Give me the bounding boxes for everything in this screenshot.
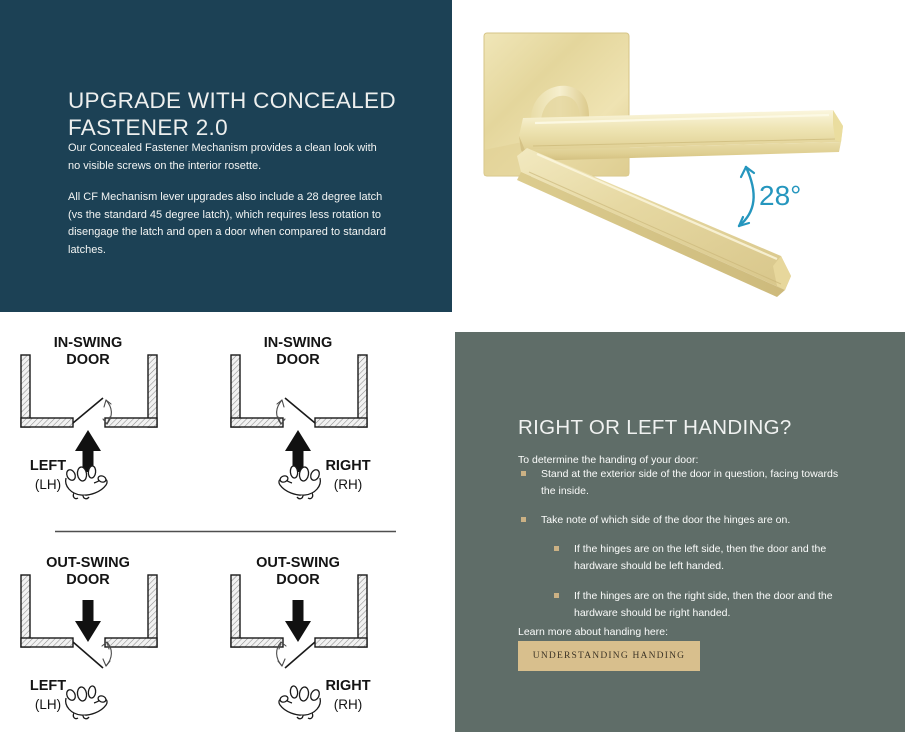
concealed-fastener-paragraph-1: Our Concealed Fastener Mechanism provide… — [68, 140, 386, 175]
in-swing-right-title-line1: IN-SWING — [264, 335, 332, 351]
diagram-out-swing-left: OUT-SWING DOOR LEFT (LH) — [21, 555, 157, 719]
door-handing-diagram-panel: IN-SWING DOOR LEFT (LH) — [0, 320, 452, 747]
concealed-fastener-panel: UPGRADE WITH CONCEALED FASTENER 2.0 Our … — [0, 0, 452, 312]
handing-bullet-1: Stand at the exterior side of the door i… — [518, 466, 876, 500]
handing-sub-bullet-1-text: If the hinges are on the left side, then… — [574, 541, 859, 575]
concealed-fastener-body: Our Concealed Fastener Mechanism provide… — [68, 140, 386, 259]
learn-more-text: Learn more about handing here: — [518, 624, 668, 640]
left-hand-icon — [65, 466, 107, 499]
concealed-fastener-title: UPGRADE WITH CONCEALED FASTENER 2.0 — [68, 87, 398, 141]
handing-info-title: RIGHT OR LEFT HANDING? — [518, 415, 898, 441]
door-handing-diagram: IN-SWING DOOR LEFT (LH) — [0, 320, 452, 747]
right-hand-icon — [279, 466, 321, 499]
out-swing-right-hand-abbrev: (RH) — [334, 697, 363, 712]
handing-bullet-1-text: Stand at the exterior side of the door i… — [541, 466, 841, 500]
door-lever-illustration: 28° — [455, 0, 905, 320]
handing-sub-bullet-1: If the hinges are on the left side, then… — [518, 541, 876, 575]
in-swing-right-hand-label: RIGHT — [325, 458, 370, 474]
in-swing-left-hand-label: LEFT — [30, 458, 66, 474]
right-hand-icon — [279, 686, 321, 719]
lever-photo-panel: 28° — [455, 0, 905, 320]
in-swing-left-hand-abbrev: (LH) — [35, 477, 61, 492]
in-swing-left-title-line2: DOOR — [66, 352, 110, 368]
in-swing-right-hand-abbrev: (RH) — [334, 477, 363, 492]
out-swing-left-hand-label: LEFT — [30, 678, 66, 694]
lever-bar-upper — [519, 110, 843, 161]
handing-info-bullet-list: Stand at the exterior side of the door i… — [518, 466, 876, 622]
out-swing-right-title-line1: OUT-SWING — [256, 555, 340, 571]
diagram-in-swing-right: IN-SWING DOOR RIGHT (RH) — [231, 335, 371, 499]
handing-bullet-2-text: Take note of which side of the door the … — [541, 512, 841, 529]
handing-sub-bullet-2: If the hinges are on the right side, the… — [518, 588, 876, 622]
diagram-in-swing-left: IN-SWING DOOR LEFT (LH) — [21, 335, 157, 499]
out-swing-left-direction-arrow — [75, 600, 101, 642]
concealed-fastener-paragraph-2: All CF Mechanism lever upgrades also inc… — [68, 189, 386, 259]
out-swing-left-title-line2: DOOR — [66, 572, 110, 588]
in-swing-left-title-line1: IN-SWING — [54, 335, 122, 351]
left-hand-icon — [65, 686, 107, 719]
handing-bullet-2: Take note of which side of the door the … — [518, 512, 876, 529]
handing-bullet-2-sublist: If the hinges are on the left side, then… — [518, 541, 876, 622]
in-swing-left-direction-arrow — [75, 430, 101, 472]
out-swing-right-direction-arrow — [285, 600, 311, 642]
handing-sub-bullet-2-text: If the hinges are on the right side, the… — [574, 588, 859, 622]
in-swing-right-direction-arrow — [285, 430, 311, 472]
bullet-square-icon — [521, 471, 526, 476]
angle-indicator — [739, 167, 754, 226]
out-swing-left-hand-abbrev: (LH) — [35, 697, 61, 712]
out-swing-right-hand-label: RIGHT — [325, 678, 370, 694]
angle-label: 28° — [759, 180, 801, 211]
diagram-out-swing-right: OUT-SWING DOOR RIGHT (RH) — [231, 555, 371, 719]
out-swing-right-title-line2: DOOR — [276, 572, 320, 588]
understanding-handing-button[interactable]: UNDERSTANDING HANDING — [518, 641, 700, 671]
bullet-square-icon — [554, 593, 559, 598]
bullet-square-icon — [521, 517, 526, 522]
bullet-square-icon — [554, 546, 559, 551]
in-swing-right-title-line2: DOOR — [276, 352, 320, 368]
out-swing-left-title-line1: OUT-SWING — [46, 555, 130, 571]
